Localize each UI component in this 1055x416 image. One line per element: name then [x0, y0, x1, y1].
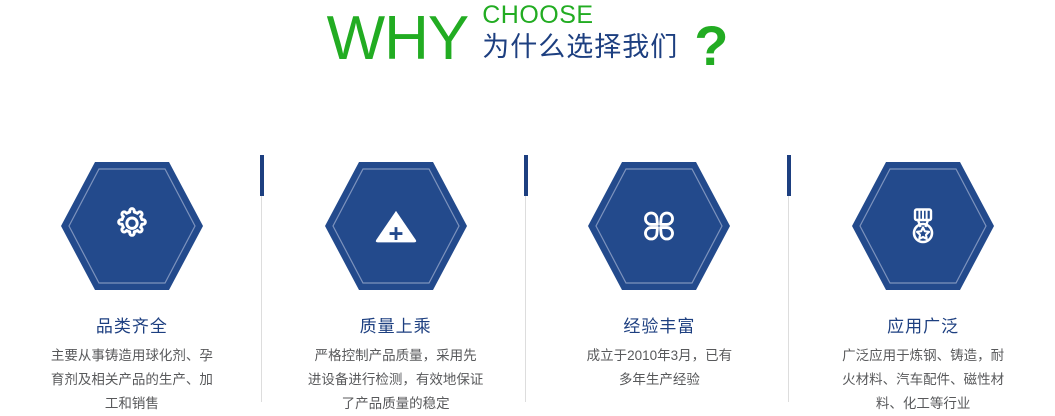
feature-description-line: 工和销售	[26, 392, 238, 416]
triangle-plus-icon	[323, 158, 469, 294]
feature-description-line: 主要从事铸造用球化剂、孕	[26, 344, 238, 368]
feature-hexagon-4	[850, 158, 996, 294]
feature-description: 成立于2010年3月，已有 多年生产经验	[553, 344, 765, 392]
feature-description: 广泛应用于炼钢、铸造，耐 火材料、汽车配件、磁性材 料、化工等行业	[817, 344, 1029, 416]
feature-description: 主要从事铸造用球化剂、孕 育剂及相关产品的生产、加 工和销售	[26, 344, 238, 416]
gear-icon	[59, 158, 205, 294]
feature-title: 应用广泛	[887, 316, 959, 338]
medal-icon	[850, 158, 996, 294]
feature-description-line: 进设备进行检测，有效地保证	[290, 368, 502, 392]
feature-description-line: 多年生产经验	[553, 368, 765, 392]
clover-icon	[586, 158, 732, 294]
feature-column-4: 应用广泛 广泛应用于炼钢、铸造，耐 火材料、汽车配件、磁性材 料、化工等行业	[791, 148, 1055, 416]
feature-description-line: 料、化工等行业	[817, 392, 1029, 416]
feature-column-2: 质量上乘 严格控制产品质量，采用先 进设备进行检测，有效地保证 了产品质量的稳定	[264, 148, 528, 416]
feature-description-line: 成立于2010年3月，已有	[553, 344, 765, 368]
feature-hexagon-1	[59, 158, 205, 294]
feature-description-line: 育剂及相关产品的生产、加	[26, 368, 238, 392]
feature-title: 经验丰富	[623, 316, 695, 338]
divider-grey-line	[525, 196, 526, 402]
feature-hexagon-3	[586, 158, 732, 294]
feature-column-3: 经验丰富 成立于2010年3月，已有 多年生产经验	[528, 148, 792, 416]
heading-why-word: WHY	[327, 0, 469, 70]
feature-hexagon-2	[323, 158, 469, 294]
feature-columns: 品类齐全 主要从事铸造用球化剂、孕 育剂及相关产品的生产、加 工和销售	[0, 148, 1055, 416]
heading-middle-stack: CHOOSE 为什么选择我们	[468, 0, 678, 63]
feature-description-line: 了产品质量的稳定	[290, 392, 502, 416]
why-choose-us-section: WHY CHOOSE 为什么选择我们 ?	[0, 0, 1055, 416]
feature-title: 品类齐全	[96, 316, 168, 338]
feature-description-line: 广泛应用于炼钢、铸造，耐	[817, 344, 1029, 368]
heading-question-mark: ?	[678, 0, 728, 74]
divider-grey-line	[788, 196, 789, 402]
feature-description-line: 火材料、汽车配件、磁性材	[817, 368, 1029, 392]
heading-choose-word: CHOOSE	[482, 2, 678, 29]
feature-column-1: 品类齐全 主要从事铸造用球化剂、孕 育剂及相关产品的生产、加 工和销售	[0, 148, 264, 416]
section-heading: WHY CHOOSE 为什么选择我们 ?	[0, 0, 1055, 100]
feature-description-line: 严格控制产品质量，采用先	[290, 344, 502, 368]
feature-description: 严格控制产品质量，采用先 进设备进行检测，有效地保证 了产品质量的稳定	[290, 344, 502, 416]
feature-title: 质量上乘	[360, 316, 432, 338]
divider-grey-line	[261, 196, 262, 402]
heading-chinese-subtitle: 为什么选择我们	[482, 29, 678, 63]
